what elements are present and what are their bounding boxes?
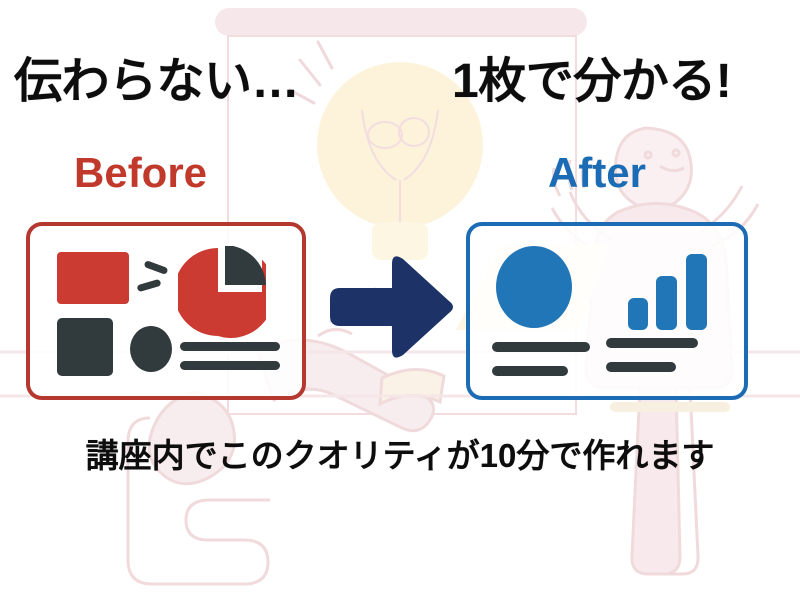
text-line-icon	[492, 342, 590, 352]
pie-chart-icon	[178, 246, 266, 338]
headline-before: 伝わらない…	[14, 58, 299, 106]
right-arrow-icon	[330, 252, 456, 362]
text-line-icon	[606, 338, 698, 348]
text-line-icon	[180, 342, 280, 351]
headline-after: 1枚で分かる!	[452, 58, 731, 106]
slide-canvas: 伝わらない… 1枚で分かる! Before After	[0, 0, 800, 600]
bar-chart-bar	[656, 276, 677, 330]
dash-mark-icon	[144, 260, 169, 275]
dark-rectangle-block-icon	[57, 318, 113, 376]
label-before: Before	[74, 152, 207, 194]
text-line-icon	[492, 366, 568, 376]
dark-circle-block-icon	[130, 326, 172, 372]
bar-chart-bar	[686, 254, 707, 330]
before-card	[26, 222, 306, 400]
blue-circle-block-icon	[496, 246, 572, 328]
bar-chart-bar	[628, 298, 648, 330]
dash-mark-icon	[137, 279, 162, 292]
bottom-caption: 講座内でこのクオリティが10分で作れます	[0, 436, 800, 476]
text-line-icon	[180, 361, 280, 370]
label-after: After	[548, 152, 646, 194]
after-card	[466, 222, 748, 400]
red-rectangle-block-icon	[57, 252, 129, 304]
text-line-icon	[606, 362, 676, 372]
